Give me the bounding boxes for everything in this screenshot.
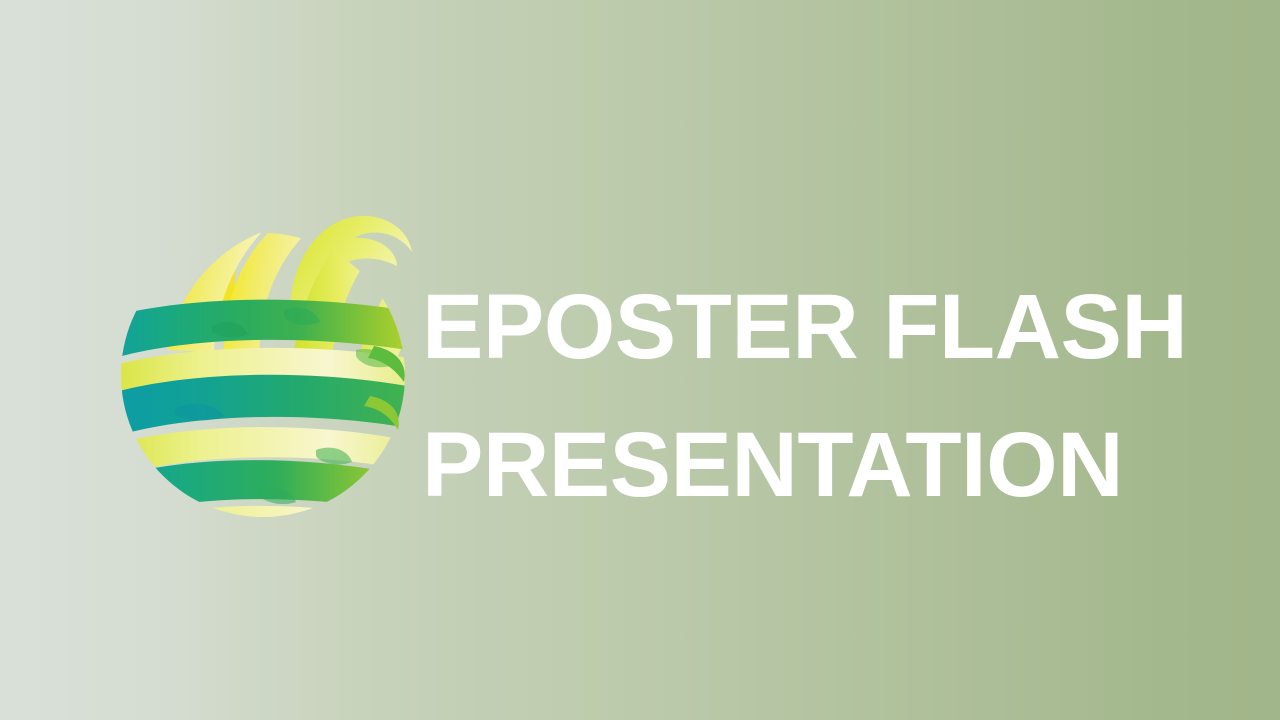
title-line-1: EPOSTER FLASH — [422, 258, 1212, 396]
title-line-2: PRESENTATION — [422, 396, 1212, 534]
slide-title: EPOSTER FLASH PRESENTATION — [422, 258, 1212, 534]
presentation-slide: EPOSTER FLASH PRESENTATION — [0, 0, 1280, 720]
striped-globe-logo — [116, 200, 416, 530]
